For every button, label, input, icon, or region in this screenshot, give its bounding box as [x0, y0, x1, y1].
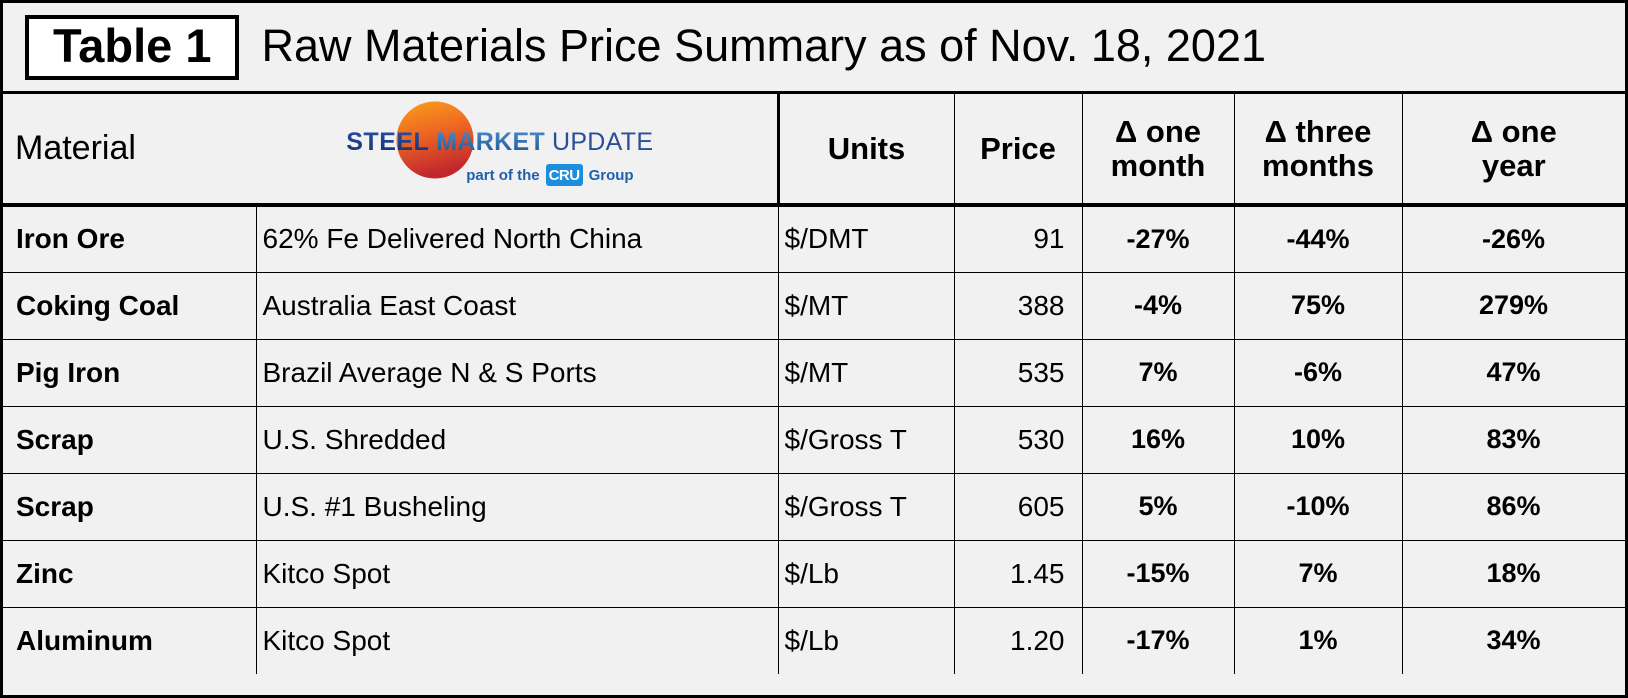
cell-units: $/MT: [778, 339, 954, 406]
cell-delta-three-months: 10%: [1234, 406, 1402, 473]
cell-delta-one-year: 279%: [1402, 272, 1625, 339]
cell-material: Scrap: [3, 406, 256, 473]
table-row: Iron Ore62% Fe Delivered North China$/DM…: [3, 205, 1625, 272]
cell-delta-three-months: -6%: [1234, 339, 1402, 406]
raw-materials-price-summary-table: Table 1 Raw Materials Price Summary as o…: [0, 0, 1628, 698]
delta-one-month-line1: Δ one: [1115, 114, 1201, 149]
cell-description: Kitco Spot: [256, 540, 778, 607]
cell-price: 91: [954, 205, 1082, 272]
logo-word-update: UPDATE: [552, 128, 653, 156]
column-header-units: Units: [778, 94, 954, 205]
cell-units: $/Lb: [778, 607, 954, 674]
table-header-row: Material: [3, 94, 1625, 205]
cell-delta-one-year: 86%: [1402, 473, 1625, 540]
cell-material: Coking Coal: [3, 272, 256, 339]
cell-delta-one-month: 5%: [1082, 473, 1234, 540]
cell-description: U.S. #1 Busheling: [256, 473, 778, 540]
cell-delta-one-month: -17%: [1082, 607, 1234, 674]
cell-delta-one-month: 16%: [1082, 406, 1234, 473]
column-header-delta-one-year: Δ one year: [1402, 94, 1625, 205]
cell-material: Zinc: [3, 540, 256, 607]
cell-description: Brazil Average N & S Ports: [256, 339, 778, 406]
cell-delta-three-months: -10%: [1234, 473, 1402, 540]
cru-badge-label: CRU: [549, 167, 580, 184]
column-header-delta-one-month: Δ one month: [1082, 94, 1234, 205]
cell-material: Aluminum: [3, 607, 256, 674]
tagline-prefix: part of the: [466, 167, 539, 184]
table-number-label: Table 1: [53, 19, 211, 72]
delta-three-months-line1: Δ three: [1265, 114, 1372, 149]
delta-one-year-line2: year: [1482, 148, 1546, 183]
logo-word-steel: STEEL: [346, 128, 429, 156]
table-body: Iron Ore62% Fe Delivered North China$/DM…: [3, 205, 1625, 674]
cell-delta-one-year: -26%: [1402, 205, 1625, 272]
cell-description: Australia East Coast: [256, 272, 778, 339]
logo-word-market: MARKET: [436, 128, 545, 156]
cell-description: U.S. Shredded: [256, 406, 778, 473]
steel-market-update-logo: STEEL MARKET UPDATE part of the CRU Grou…: [256, 94, 778, 205]
cell-delta-one-year: 47%: [1402, 339, 1625, 406]
page-title: Raw Materials Price Summary as of Nov. 1…: [261, 23, 1266, 72]
cell-delta-three-months: 75%: [1234, 272, 1402, 339]
cell-delta-one-month: -15%: [1082, 540, 1234, 607]
table-row: ScrapU.S. Shredded$/Gross T53016%10%83%: [3, 406, 1625, 473]
delta-one-year-line1: Δ one: [1471, 114, 1557, 149]
table-row: Coking CoalAustralia East Coast$/MT388-4…: [3, 272, 1625, 339]
cell-delta-three-months: 1%: [1234, 607, 1402, 674]
cell-delta-one-year: 34%: [1402, 607, 1625, 674]
cell-description: Kitco Spot: [256, 607, 778, 674]
cell-units: $/DMT: [778, 205, 954, 272]
cell-units: $/Lb: [778, 540, 954, 607]
delta-one-month-line2: month: [1111, 148, 1206, 183]
cell-delta-one-year: 83%: [1402, 406, 1625, 473]
cell-delta-one-month: -27%: [1082, 205, 1234, 272]
logo-tagline: part of the CRU Group: [466, 164, 633, 186]
table-row: AluminumKitco Spot$/Lb1.20-17%1%34%: [3, 607, 1625, 674]
logo-wrap: STEEL MARKET UPDATE part of the CRU Grou…: [346, 96, 686, 201]
delta-three-months-line2: months: [1262, 148, 1374, 183]
cru-badge: CRU: [546, 164, 583, 186]
cell-material: Scrap: [3, 473, 256, 540]
title-bar: Table 1 Raw Materials Price Summary as o…: [3, 3, 1625, 94]
column-header-price: Price: [954, 94, 1082, 205]
table-number-badge: Table 1: [25, 15, 239, 80]
table-row: ZincKitco Spot$/Lb1.45-15%7%18%: [3, 540, 1625, 607]
cell-delta-one-month: 7%: [1082, 339, 1234, 406]
column-header-material: Material: [3, 94, 256, 205]
price-summary-table: Material: [3, 94, 1626, 674]
cell-material: Iron Ore: [3, 205, 256, 272]
cell-price: 1.45: [954, 540, 1082, 607]
cell-delta-one-year: 18%: [1402, 540, 1625, 607]
cell-description: 62% Fe Delivered North China: [256, 205, 778, 272]
column-header-delta-three-months: Δ three months: [1234, 94, 1402, 205]
cell-delta-one-month: -4%: [1082, 272, 1234, 339]
cell-price: 1.20: [954, 607, 1082, 674]
cell-units: $/Gross T: [778, 406, 954, 473]
cell-units: $/MT: [778, 272, 954, 339]
cell-units: $/Gross T: [778, 473, 954, 540]
logo-wordmark: STEEL MARKET UPDATE: [346, 128, 686, 157]
cell-delta-three-months: 7%: [1234, 540, 1402, 607]
cell-price: 388: [954, 272, 1082, 339]
table-row: Pig IronBrazil Average N & S Ports$/MT53…: [3, 339, 1625, 406]
tagline-suffix: Group: [589, 167, 634, 184]
cell-price: 605: [954, 473, 1082, 540]
cell-price: 530: [954, 406, 1082, 473]
cell-delta-three-months: -44%: [1234, 205, 1402, 272]
cell-price: 535: [954, 339, 1082, 406]
cell-material: Pig Iron: [3, 339, 256, 406]
table-row: ScrapU.S. #1 Busheling$/Gross T6055%-10%…: [3, 473, 1625, 540]
